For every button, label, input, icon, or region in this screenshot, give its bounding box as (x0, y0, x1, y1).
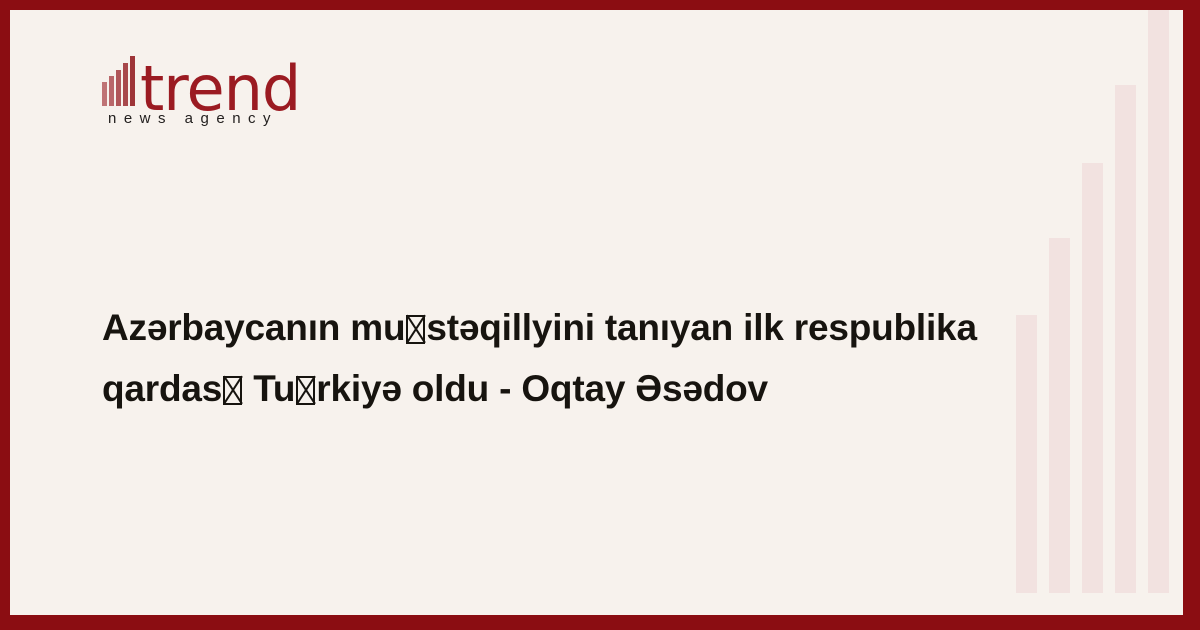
watermark-bar (1148, 10, 1169, 593)
ascending-bars-watermark-icon (1010, 10, 1175, 593)
missing-glyph-box (406, 315, 425, 344)
missing-glyph-box (223, 376, 242, 405)
watermark-bar (1049, 238, 1070, 593)
article-headline: Azərbaycanın mustəqillyini tanıyan ilk r… (102, 297, 1002, 419)
headline-segment: Tu (243, 368, 295, 409)
logo-bar (123, 63, 128, 106)
brand-logo[interactable]: trend news agency (102, 50, 302, 140)
logo-bar (102, 82, 107, 106)
watermark-bar (1082, 163, 1103, 593)
missing-glyph-box (296, 376, 315, 405)
headline-segment: rkiyə oldu - Oqtay Əsədov (316, 368, 768, 409)
logo-bar (130, 56, 135, 106)
social-share-card: trend news agency Azərbaycanın mustəqill… (10, 10, 1183, 615)
watermark-bar (1016, 315, 1037, 593)
logo-bar (116, 70, 121, 106)
logo-bar (109, 76, 114, 106)
brand-tagline: news agency (108, 110, 278, 127)
logo-mark: trend (102, 50, 302, 106)
watermark-bar (1115, 85, 1136, 593)
headline-segment: Azərbaycanın mu (102, 307, 405, 348)
